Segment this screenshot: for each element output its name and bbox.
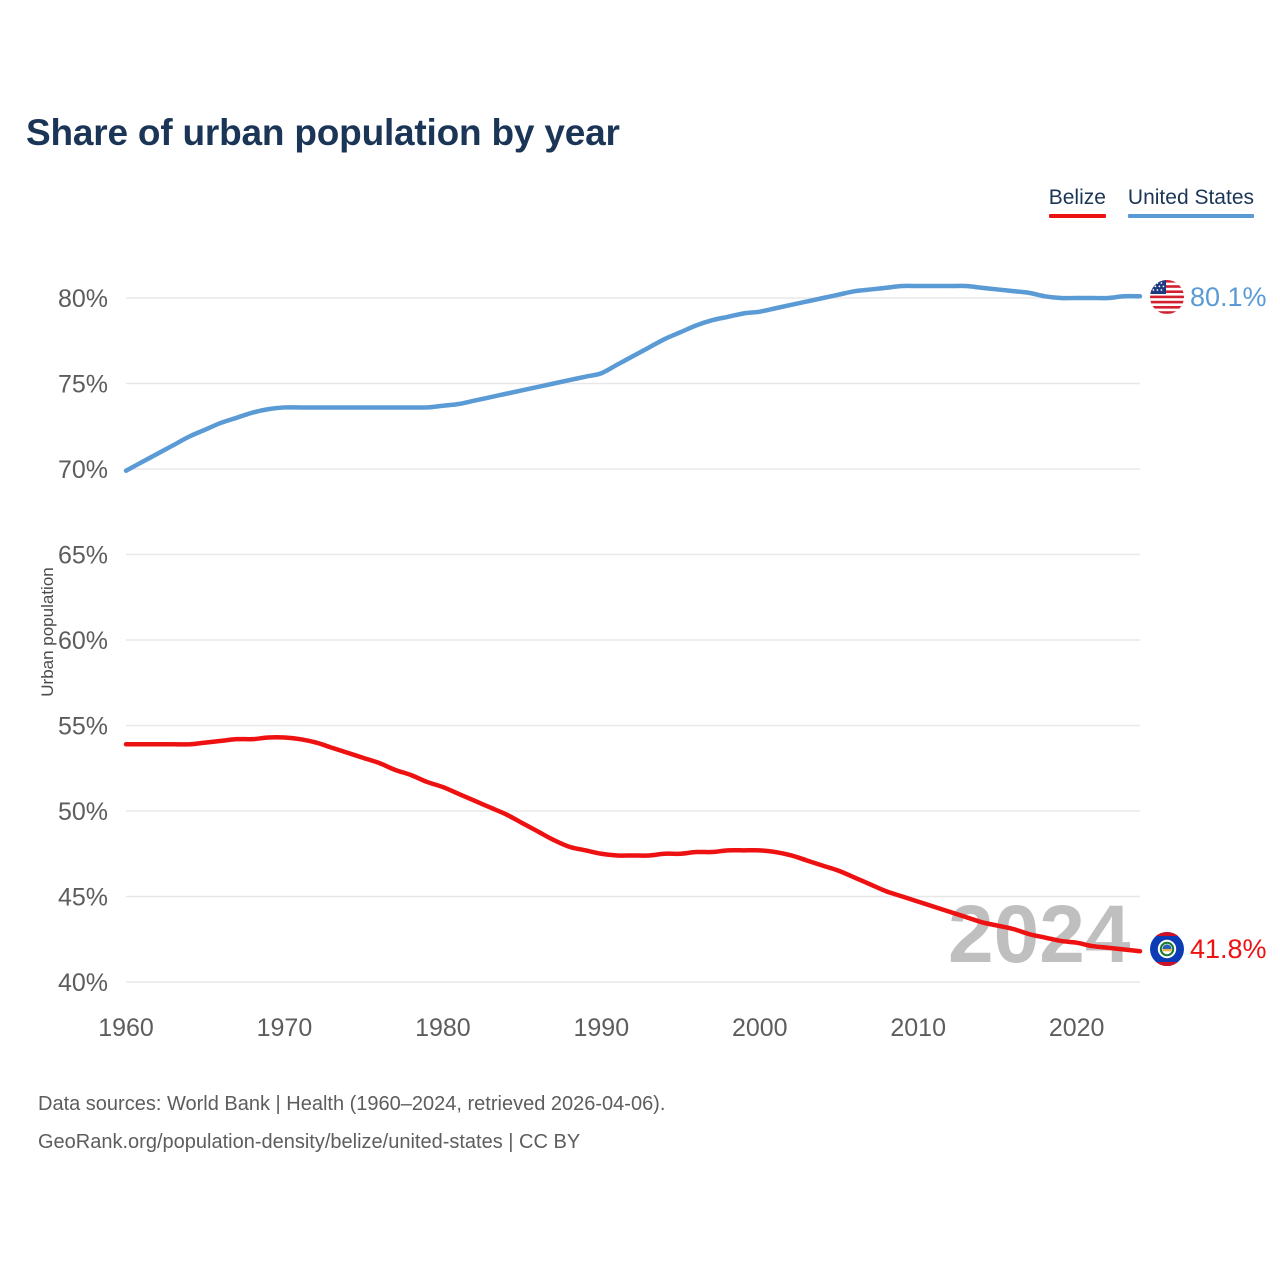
chart-page: Share of urban population by year Belize… <box>0 0 1280 1280</box>
x-axis-tick: 1960 <box>98 1014 154 1042</box>
gridlines <box>126 298 1140 982</box>
flag-belize-icon[interactable] <box>1150 932 1184 966</box>
x-axis-tick-labels: 1960197019801990200020102020 <box>98 1014 1104 1042</box>
y-axis-tick: 45% <box>58 884 108 912</box>
y-axis-tick: 50% <box>58 798 108 826</box>
footer-attribution[interactable]: GeoRank.org/population-density/belize/un… <box>38 1123 665 1161</box>
y-axis-label: Urban population <box>38 532 58 732</box>
y-axis-tick: 80% <box>58 285 108 313</box>
y-axis-tick: 60% <box>58 627 108 655</box>
end-value-belize: 41.8% <box>1190 934 1267 964</box>
x-axis-tick: 1980 <box>415 1014 471 1042</box>
y-axis-tick: 70% <box>58 456 108 484</box>
y-axis-tick: 40% <box>58 969 108 997</box>
y-axis-tick-labels: 40%45%50%55%60%65%70%75%80% <box>58 285 108 997</box>
end-value-united-states: 80.1% <box>1190 282 1267 312</box>
series-line-united-states <box>126 286 1140 471</box>
x-axis-tick: 2010 <box>890 1014 946 1042</box>
x-axis-tick: 1970 <box>257 1014 313 1042</box>
y-axis-tick: 75% <box>58 371 108 399</box>
x-axis-tick: 2000 <box>732 1014 788 1042</box>
footer-data-sources: Data sources: World Bank | Health (1960–… <box>38 1085 665 1123</box>
x-axis-tick: 1990 <box>574 1014 630 1042</box>
x-axis-tick: 2020 <box>1049 1014 1105 1042</box>
y-axis-tick: 65% <box>58 542 108 570</box>
flag-united-states-icon[interactable] <box>1150 280 1184 314</box>
chart-footer: Data sources: World Bank | Health (1960–… <box>38 1085 665 1161</box>
y-axis-tick: 55% <box>58 713 108 741</box>
